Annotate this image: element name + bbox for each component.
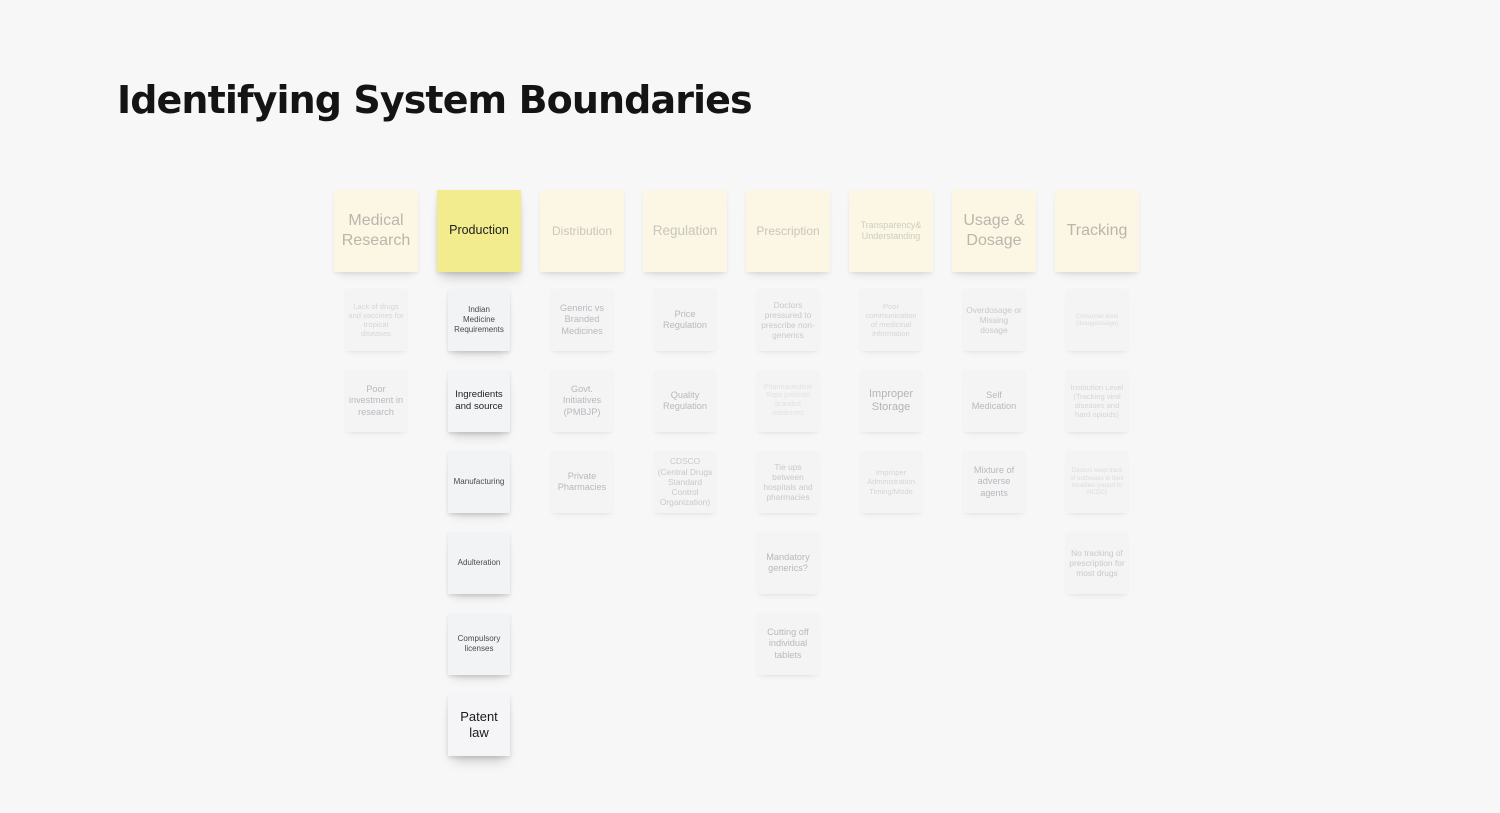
column-medical-research: Medical ResearchLack of drugs and vaccin…	[334, 190, 418, 272]
note-list-medical-research: Lack of drugs and vaccines for tropical …	[345, 289, 407, 451]
sticky-note[interactable]: Self Medication	[963, 370, 1025, 432]
sticky-note[interactable]: Quality Regulation	[654, 370, 716, 432]
note-list-usage-dosage: Overdosage or Missing dosageSelf Medicat…	[963, 289, 1025, 532]
sticky-note[interactable]: Generic vs Branded Medicines	[551, 289, 613, 351]
column-transparency-understanding: Transparency& UnderstandingPoor communic…	[849, 190, 933, 272]
sticky-note[interactable]: Mandatory generics?	[757, 532, 819, 594]
sticky-note[interactable]: Mixture of adverse agents	[963, 451, 1025, 513]
note-list-transparency-understanding: Poor communication of medicinal informat…	[860, 289, 922, 532]
sticky-note[interactable]: Overdosage or Missing dosage	[963, 289, 1025, 351]
header-note-medical-research[interactable]: Medical Research	[334, 190, 418, 272]
sticky-note[interactable]: Cutting off individual tablets	[757, 613, 819, 675]
sticky-note[interactable]: Patent law	[448, 694, 510, 756]
sticky-note[interactable]: Institution Level (Tracking viral diseas…	[1066, 370, 1128, 432]
sticky-note[interactable]: Pharmaceutical Reps promote branded medi…	[757, 370, 819, 432]
note-list-production: Indian Medicine RequirementsIngredients …	[448, 289, 510, 775]
sticky-note[interactable]: Adulteration	[448, 532, 510, 594]
sticky-note[interactable]: Lack of drugs and vaccines for tropical …	[345, 289, 407, 351]
sticky-note[interactable]: CDSCO (Central Drugs Standard Control Or…	[654, 451, 716, 513]
sticky-note[interactable]: Improper Storage	[860, 370, 922, 432]
header-note-usage-dosage[interactable]: Usage & Dosage	[952, 190, 1036, 272]
sticky-note[interactable]: Govt. Initiatives (PMBJP)	[551, 370, 613, 432]
sticky-note[interactable]: Ingredients and source	[448, 370, 510, 432]
sticky-note[interactable]: Poor investment in research	[345, 370, 407, 432]
sticky-note[interactable]: No tracking of prescription for most dru…	[1066, 532, 1128, 594]
sticky-note[interactable]: Poor communication of medicinal informat…	[860, 289, 922, 351]
sticky-note[interactable]: Doctors keep track of outbreaks in their…	[1066, 451, 1128, 513]
header-note-regulation[interactable]: Regulation	[643, 190, 727, 272]
sticky-note[interactable]: Doctors pressured to prescribe non-gener…	[757, 289, 819, 351]
sticky-note[interactable]: Manufacturing	[448, 451, 510, 513]
column-regulation: RegulationPrice RegulationQuality Regula…	[643, 190, 727, 272]
note-list-distribution: Generic vs Branded MedicinesGovt. Initia…	[551, 289, 613, 532]
sticky-note[interactable]: Tie ups between hospitals and pharmacies	[757, 451, 819, 513]
note-list-regulation: Price RegulationQuality RegulationCDSCO …	[654, 289, 716, 532]
header-note-transparency-understanding[interactable]: Transparency& Understanding	[849, 190, 933, 272]
sticky-note[interactable]: Indian Medicine Requirements	[448, 289, 510, 351]
column-production: ProductionIndian Medicine RequirementsIn…	[437, 190, 521, 272]
column-distribution: DistributionGeneric vs Branded Medicines…	[540, 190, 624, 272]
sticky-note[interactable]: Improper Administration Timing/Mode	[860, 451, 922, 513]
column-prescription: PrescriptionDoctors pressured to prescri…	[746, 190, 830, 272]
sticky-note[interactable]: Consumer level (dosage/usage)	[1066, 289, 1128, 351]
header-note-distribution[interactable]: Distribution	[540, 190, 624, 272]
header-note-prescription[interactable]: Prescription	[746, 190, 830, 272]
sticky-note-board: Identifying System Boundaries Medical Re…	[0, 0, 1500, 813]
column-tracking: TrackingConsumer level (dosage/usage)Ins…	[1055, 190, 1139, 272]
sticky-note[interactable]: Private Pharmacies	[551, 451, 613, 513]
note-list-tracking: Consumer level (dosage/usage)Institution…	[1066, 289, 1128, 613]
note-list-prescription: Doctors pressured to prescribe non-gener…	[757, 289, 819, 694]
header-note-tracking[interactable]: Tracking	[1055, 190, 1139, 272]
page-title: Identifying System Boundaries	[117, 78, 752, 122]
column-usage-dosage: Usage & DosageOverdosage or Missing dosa…	[952, 190, 1036, 272]
sticky-note[interactable]: Price Regulation	[654, 289, 716, 351]
header-note-production[interactable]: Production	[437, 190, 521, 272]
sticky-note[interactable]: Compulsory licenses	[448, 613, 510, 675]
